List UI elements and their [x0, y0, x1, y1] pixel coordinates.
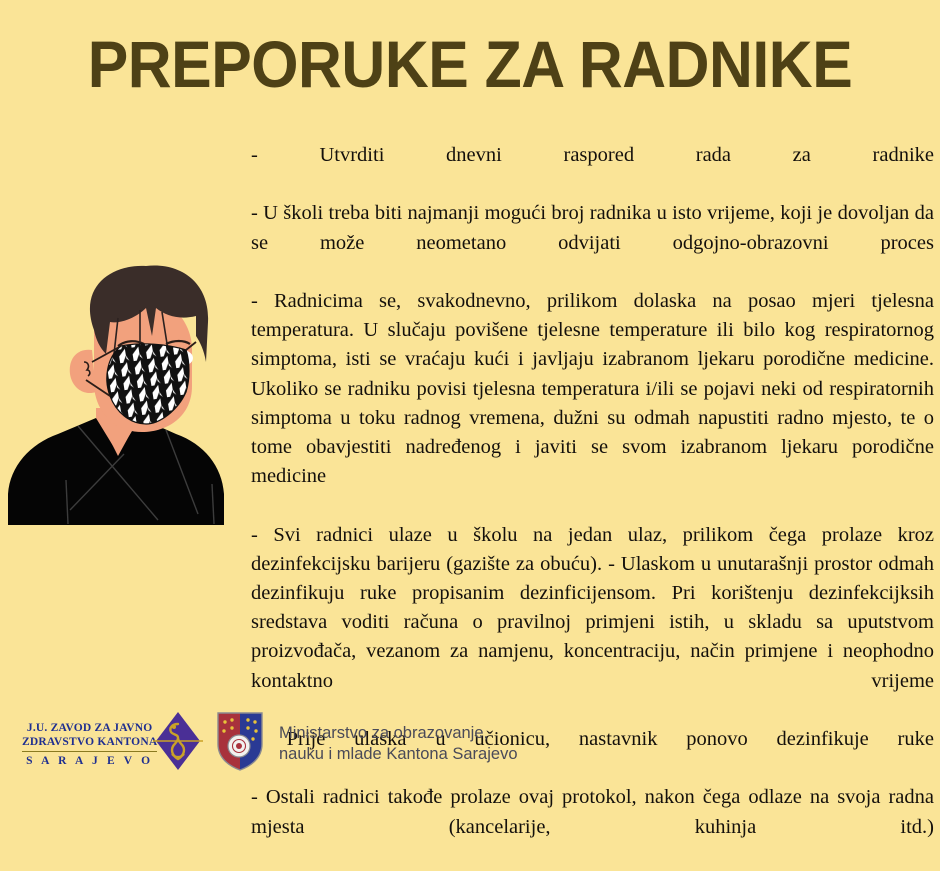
recommendation-item: - Radnicima se, svakodnevno, prilikom do…	[251, 287, 934, 521]
ear-shape	[70, 350, 96, 393]
zzjz-line-2: ZDRAVSTVO KANTONA	[22, 735, 157, 752]
bottom-crop-edge	[0, 525, 232, 528]
zzjz-line-3: S A R A J E V O	[22, 752, 157, 769]
recommendation-item: - U školi treba biti najmanji mogući bro…	[251, 199, 934, 287]
snake-head	[172, 725, 176, 729]
sarajevo-canton-shield-icon	[215, 710, 265, 777]
zavod-za-javno-zdravstvo-logo: J.U. ZAVOD ZA JAVNO ZDRAVSTVO KANTONA S …	[22, 712, 203, 777]
shield-emblem-center	[236, 743, 242, 749]
ministarstvo-line-1: Ministarstvo za obrazovanje,	[279, 723, 518, 744]
recommendation-item: - Ostali radnici takođe prolaze ovaj pro…	[251, 783, 934, 871]
zzjz-logo-text: J.U. ZAVOD ZA JAVNO ZDRAVSTVO KANTONA S …	[22, 721, 157, 769]
zzjz-line-1: J.U. ZAVOD ZA JAVNO	[22, 721, 157, 736]
recommendation-item: - Utvrditi dnevni raspored rada za radni…	[251, 141, 934, 199]
masked-worker-illustration	[0, 258, 232, 528]
footer: J.U. ZAVOD ZA JAVNO ZDRAVSTVO KANTONA S …	[0, 700, 940, 788]
page-title: PREPORUKE ZA RADNIKE	[38, 30, 903, 99]
poster-canvas: PREPORUKE ZA RADNIKE	[0, 0, 940, 788]
ministarstvo-logo-text: Ministarstvo za obrazovanje, nauku i mla…	[279, 723, 518, 765]
ministarstvo-logo: Ministarstvo za obrazovanje, nauku i mla…	[215, 710, 518, 777]
ministarstvo-line-2: nauku i mlade Kantona Sarajevo	[279, 744, 518, 765]
worker-svg	[0, 258, 232, 528]
caduceus-diamond-icon	[153, 710, 203, 777]
recommendation-item: - Svi radnici ulaze u školu na jedan ula…	[251, 521, 934, 725]
